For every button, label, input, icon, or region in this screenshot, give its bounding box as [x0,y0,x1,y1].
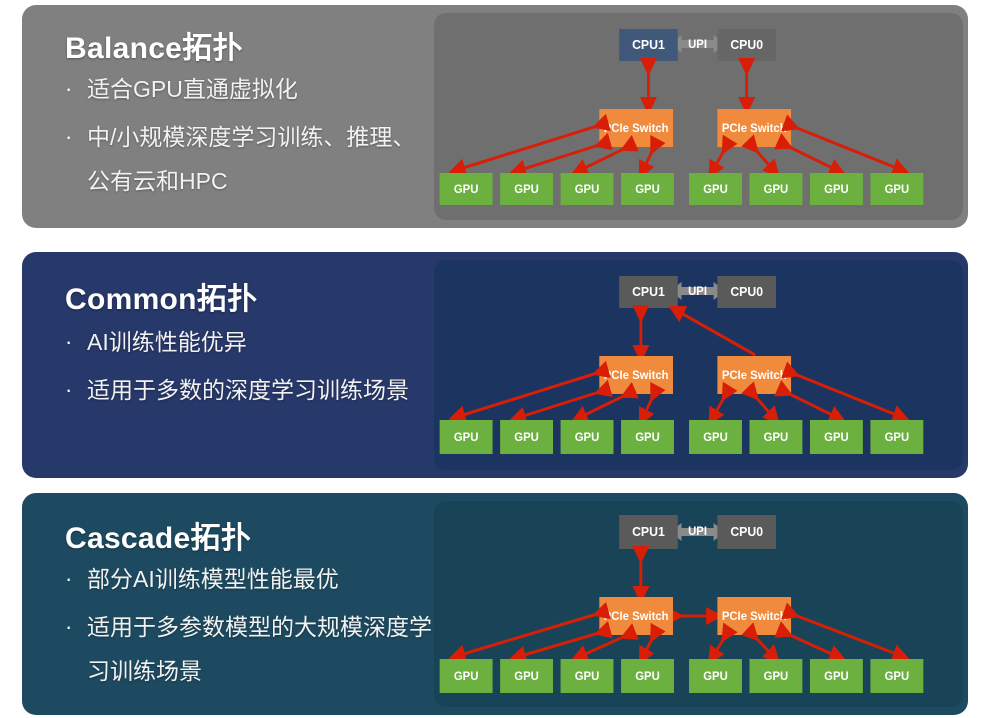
pcie-switch-left-label: PCIe Switch [604,122,669,135]
pcie-switch-right-label: PCIe Switch [722,369,787,382]
gpu-label: GPU [635,183,660,196]
bullet-text: 中/小规模深度学习训练、推理、公有云和HPC [87,115,434,203]
gpu-label: GPU [575,183,600,196]
link-sw-r-gpu5 [713,394,726,418]
gpu-label: GPU [575,670,600,683]
bullet-text: 部分AI训练模型性能最优 [87,557,339,601]
gpu-row: GPU GPU GPU GPU GPU GPU GPU [440,420,924,454]
gpu-label: GPU [454,183,479,196]
link-sw-r-gpu7 [785,633,838,657]
panel-balance-title: Balance拓扑 [65,23,243,67]
pcie-switch-right-label: PCIe Switch [722,610,787,623]
bullet-marker-icon: · [65,115,87,159]
cpu1-label: CPU1 [632,38,665,52]
gpu-label: GPU [885,431,910,444]
cpu0-label: CPU0 [730,38,763,52]
link-sw-r-gpu5 [713,147,726,171]
list-item: · 适用于多参数模型的大规模深度学习训练场景 [65,605,434,693]
link-sw-l-gpu1 [457,613,601,656]
gpu-label: GPU [454,431,479,444]
gpu-label: GPU [824,431,849,444]
gpu-label: GPU [764,183,789,196]
gpu-label: GPU [635,670,660,683]
gpu-row: GPU GPU GPU GPU GPU GPU GPU [440,173,924,205]
panel-balance: Balance拓扑 · 适合GPU直通虚拟化 · 中/小规模深度学习训练、推理、… [22,5,968,228]
link-sw-l-gpu4 [643,147,654,171]
panel-common-text: Common拓扑 · AI训练性能优异 · 适用于多数的深度学习训练场景 [22,252,442,478]
list-item: · 中/小规模深度学习训练、推理、公有云和HPC [65,115,434,203]
bullet-text: AI训练性能优异 [87,320,247,364]
gpu-row: GPU GPU GPU GPU GPU GPU GPU [440,659,924,693]
panel-common-bullets: · AI训练性能优异 · 适用于多数的深度学习训练场景 [65,320,434,416]
link-switch-right-cpu1 [676,310,755,355]
panel-balance-bullets: · 适合GPU直通虚拟化 · 中/小规模深度学习训练、推理、公有云和HPC [65,67,434,207]
cpu0-label: CPU0 [730,285,763,299]
bullet-marker-icon: · [65,557,87,601]
bullet-text: 适用于多参数模型的大规模深度学习训练场景 [87,605,434,693]
bullet-text: 适用于多数的深度学习训练场景 [87,368,409,412]
gpu-label: GPU [454,670,479,683]
link-sw-l-gpu1 [457,125,601,170]
link-sw-r-gpu8 [792,126,902,170]
link-sw-l-gpu1 [457,372,601,417]
gpu-label: GPU [885,670,910,683]
list-item: · 部分AI训练模型性能最优 [65,557,434,601]
bullet-marker-icon: · [65,67,87,111]
link-sw-r-gpu6 [753,147,774,171]
gpu-label: GPU [824,670,849,683]
link-sw-r-gpu8 [792,373,902,417]
link-sw-r-gpu6 [753,635,774,657]
panel-cascade: Cascade拓扑 · 部分AI训练模型性能最优 · 适用于多参数模型的大规模深… [22,493,968,715]
pcie-switch-left-label: PCIe Switch [604,369,669,382]
bullet-marker-icon: · [65,368,87,412]
link-sw-r-gpu8 [792,614,902,656]
link-sw-r-gpu7 [785,392,838,418]
diagram-balance-svg: CPU1 CPU0 UPI PCIe Switch PCIe Switch [434,13,963,220]
panel-common-title: Common拓扑 [65,274,257,318]
gpu-label: GPU [514,670,539,683]
panel-common: Common拓扑 · AI训练性能优异 · 适用于多数的深度学习训练场景 [22,252,968,478]
gpu-label: GPU [703,431,728,444]
upi-label: UPI [688,285,707,298]
diagram-cascade-svg: CPU1 CPU0 UPI PCIe Switch PCIe Switch [434,501,963,707]
pcie-switch-right-label: PCIe Switch [722,122,787,135]
gpu-label: GPU [635,431,660,444]
topology-comparison-slide: Balance拓扑 · 适合GPU直通虚拟化 · 中/小规模深度学习训练、推理、… [0,0,997,718]
gpu-label: GPU [824,183,849,196]
cpu1-label: CPU1 [632,285,665,299]
panel-balance-text: Balance拓扑 · 适合GPU直通虚拟化 · 中/小规模深度学习训练、推理、… [22,5,442,228]
list-item: · AI训练性能优异 [65,320,434,364]
bullet-marker-icon: · [65,605,87,649]
gpu-label: GPU [703,670,728,683]
cpu0-label: CPU0 [730,525,763,539]
gpu-label: GPU [764,431,789,444]
list-item: · 适用于多数的深度学习训练场景 [65,368,434,412]
bullet-marker-icon: · [65,320,87,364]
gpu-label: GPU [514,183,539,196]
list-item: · 适合GPU直通虚拟化 [65,67,434,111]
gpu-label: GPU [703,183,728,196]
upi-label: UPI [688,38,707,51]
link-sw-r-gpu6 [753,394,774,418]
pcie-switch-left-label: PCIe Switch [604,610,669,623]
panel-cascade-title: Cascade拓扑 [65,513,251,557]
gpu-label: GPU [764,670,789,683]
gpu-label: GPU [885,183,910,196]
diagram-common: CPU1 CPU0 UPI PCIe Switch PCIe Switch [434,260,963,470]
upi-label: UPI [688,525,707,538]
link-sw-l-gpu4 [643,635,654,657]
diagram-balance: CPU1 CPU0 UPI PCIe Switch PCIe Switch [434,13,963,220]
diagram-cascade: CPU1 CPU0 UPI PCIe Switch PCIe Switch [434,501,963,707]
gpu-label: GPU [514,431,539,444]
panel-cascade-bullets: · 部分AI训练模型性能最优 · 适用于多参数模型的大规模深度学习训练场景 [65,557,434,697]
gpu-label: GPU [575,431,600,444]
panel-cascade-text: Cascade拓扑 · 部分AI训练模型性能最优 · 适用于多参数模型的大规模深… [22,493,442,715]
bullet-text: 适合GPU直通虚拟化 [87,67,298,111]
diagram-common-svg: CPU1 CPU0 UPI PCIe Switch PCIe Switch [434,260,963,470]
cpu1-label: CPU1 [632,525,665,539]
link-sw-l-gpu4 [643,394,654,418]
link-sw-r-gpu5 [713,635,726,657]
link-sw-r-gpu7 [785,145,838,171]
